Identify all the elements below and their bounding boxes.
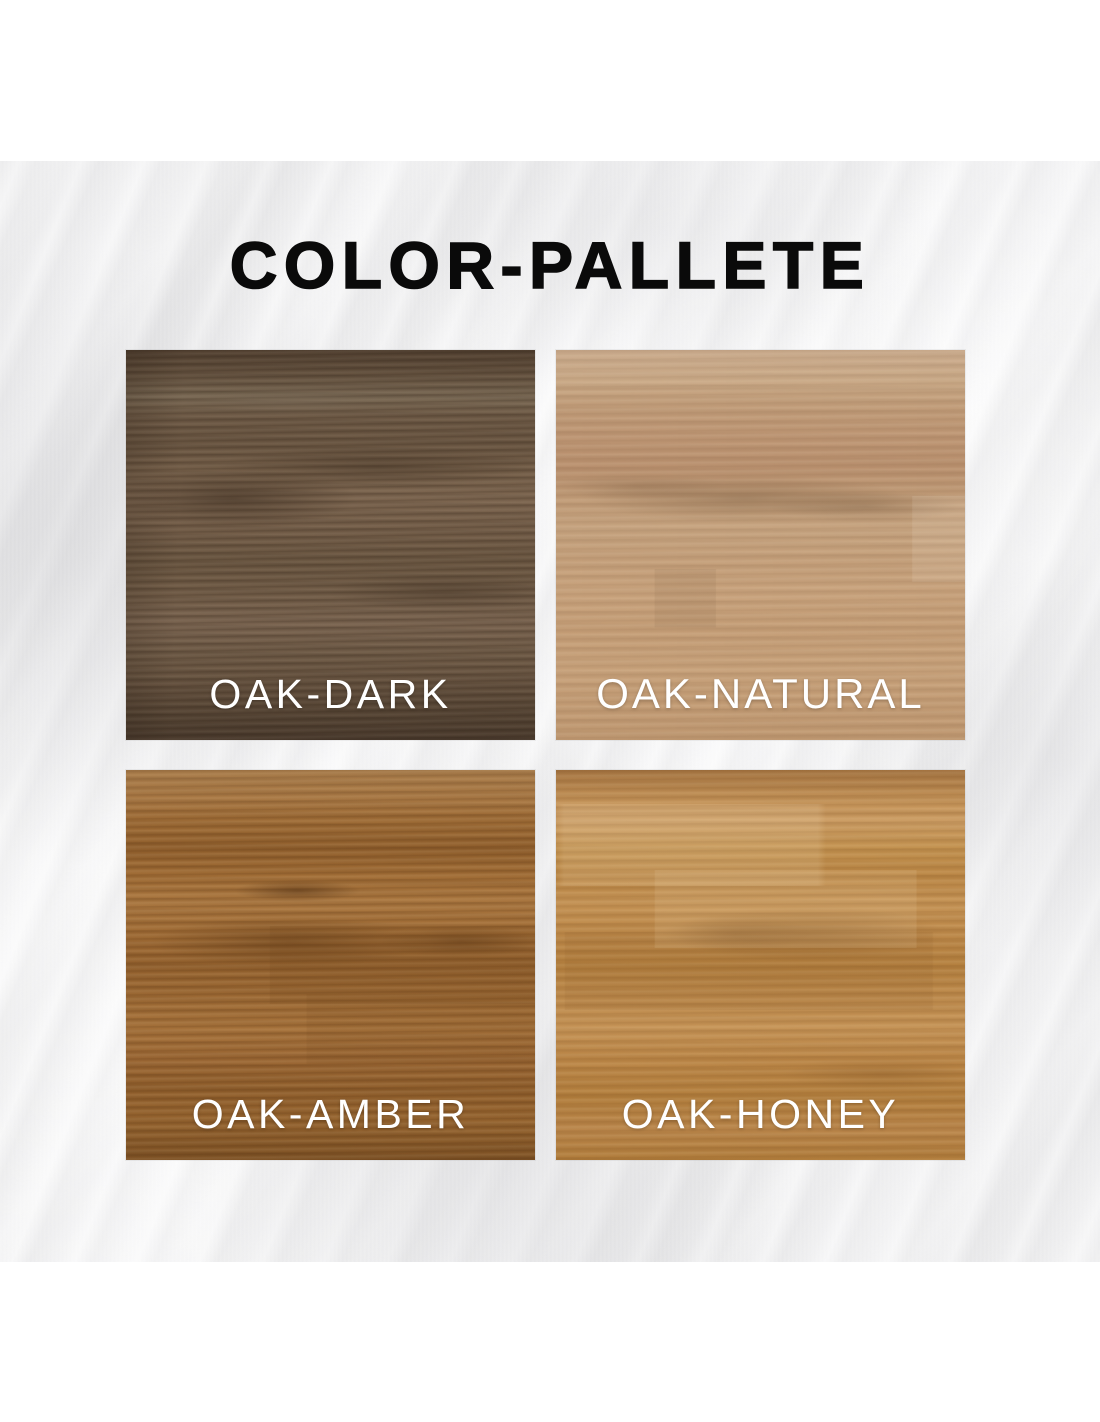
swatch-label-oak-honey: OAK-HONEY: [556, 1091, 965, 1138]
swatch-label-oak-natural: OAK-NATURAL: [556, 670, 965, 718]
palette-artboard: COLOR-PALLETE OAK-DARK OAK-NATURAL OAK-A…: [0, 161, 1100, 1262]
swatch-oak-natural[interactable]: OAK-NATURAL: [556, 350, 965, 740]
swatch-oak-dark[interactable]: OAK-DARK: [126, 350, 535, 740]
swatch-oak-honey[interactable]: OAK-HONEY: [556, 770, 965, 1160]
swatch-label-oak-amber: OAK-AMBER: [126, 1091, 535, 1138]
swatch-oak-amber[interactable]: OAK-AMBER: [126, 770, 535, 1160]
page-title: COLOR-PALLETE: [0, 232, 1100, 298]
swatch-grid: OAK-DARK OAK-NATURAL OAK-AMBER OAK-HONEY: [126, 350, 965, 1160]
swatch-label-oak-dark: OAK-DARK: [126, 671, 535, 718]
